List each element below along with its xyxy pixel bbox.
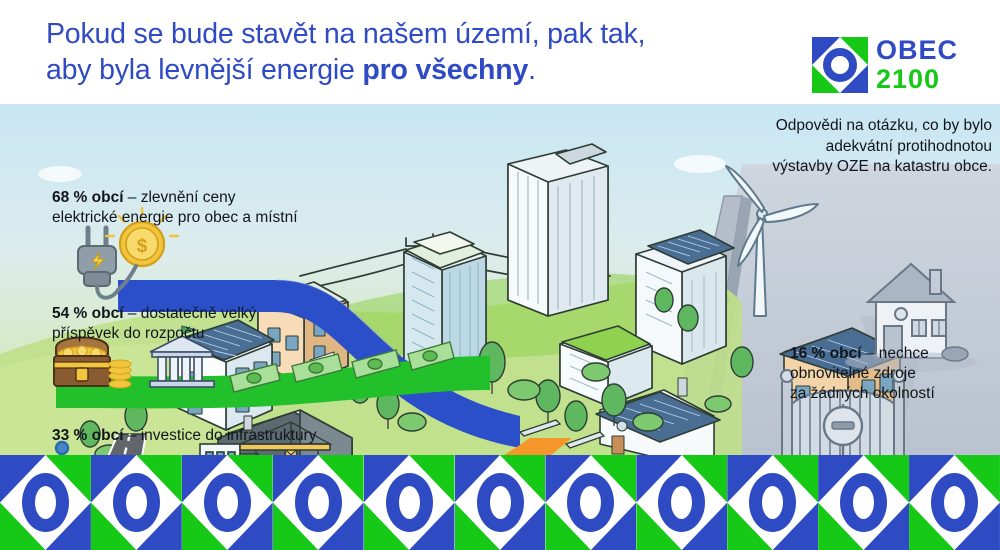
brand-pattern-tile — [636, 455, 727, 550]
brand-pattern-tile — [818, 455, 909, 550]
logo-line-1: OBEC — [876, 36, 958, 65]
stat-4-percent: 16 % obcí — [790, 345, 862, 362]
lede-text: Odpovědi na otázku, co by bylo adekvátní… — [662, 116, 992, 178]
stat-1-dash: – — [124, 189, 141, 206]
stat-2-text-1: dostatečně velký — [141, 305, 256, 322]
brand-pattern-tile — [364, 455, 455, 550]
headline-line-1: Pokud se bude stavět na našem území, pak… — [46, 18, 645, 50]
stat-4-text-1: nechce — [879, 345, 929, 362]
stat-4-text-3: za žádných okolností — [790, 385, 935, 402]
page-title: Pokud se bude stavět na našem území, pak… — [46, 16, 806, 88]
lede-line-2: adekvátní protihodnotou — [826, 138, 992, 155]
stat-refusal-label: 16 % obcí – nechce obnovitelné zdroje za… — [790, 344, 1000, 404]
logo-mark-icon — [812, 37, 868, 93]
stat-infrastructure-label: 33 % obcí – investice do infrastruktury — [52, 426, 412, 446]
brand-pattern-tile — [455, 455, 546, 550]
lede-line-3: výstavby OZE na katastru obce. — [772, 158, 992, 175]
brand-pattern-tile — [0, 455, 91, 550]
brand-pattern-tile — [273, 455, 364, 550]
stat-budget-contribution-label: 54 % obcí – dostatečně velký příspěvek d… — [52, 304, 352, 344]
stat-electricity-price-label: 68 % obcí – zlevnění ceny elektrické ene… — [52, 188, 382, 228]
lede-line-1: Odpovědi na otázku, co by bylo — [776, 117, 992, 134]
obec-2100-logo: OBEC 2100 — [812, 36, 978, 94]
brand-pattern-tile — [909, 455, 1000, 550]
stat-2-percent: 54 % obcí — [52, 305, 124, 322]
brand-pattern-tile — [91, 455, 182, 550]
stat-3-dash: – — [124, 427, 141, 444]
headline-line-2-plain: aby byla levnější energie — [46, 54, 362, 86]
office-tower-1 — [508, 144, 608, 316]
logo-line-2: 2100 — [876, 65, 958, 94]
stat-3-percent: 33 % obcí — [52, 427, 124, 444]
stat-1-text-2: elektrické energie pro obec a místní — [52, 209, 298, 226]
stat-4-dash: – — [862, 345, 879, 362]
brand-pattern-tile — [182, 455, 273, 550]
stat-2-dash: – — [124, 305, 141, 322]
stat-2-text-2: příspěvek do rozpočtu — [52, 325, 205, 342]
stat-4-text-2: obnovitelné zdroje — [790, 365, 916, 382]
infographic-root: Pokud se bude stavět na našem území, pak… — [0, 0, 1000, 550]
logo-wordmark: OBEC 2100 — [876, 36, 958, 94]
svg-text:$: $ — [137, 236, 148, 257]
brand-pattern-tile — [545, 455, 636, 550]
stat-3-text-1: investice do infrastruktury — [141, 427, 317, 444]
brand-pattern-tile — [727, 455, 818, 550]
illustration-scene: $ — [0, 104, 1000, 456]
stat-1-text-1: zlevnění ceny — [141, 189, 236, 206]
headline-line-2-bold: pro všechny — [362, 54, 528, 86]
headline-line-2-end: . — [528, 54, 536, 86]
brand-pattern-strip — [0, 455, 1000, 550]
header-band: Pokud se bude stavět na našem území, pak… — [0, 0, 1000, 104]
stat-1-percent: 68 % obcí — [52, 189, 124, 206]
